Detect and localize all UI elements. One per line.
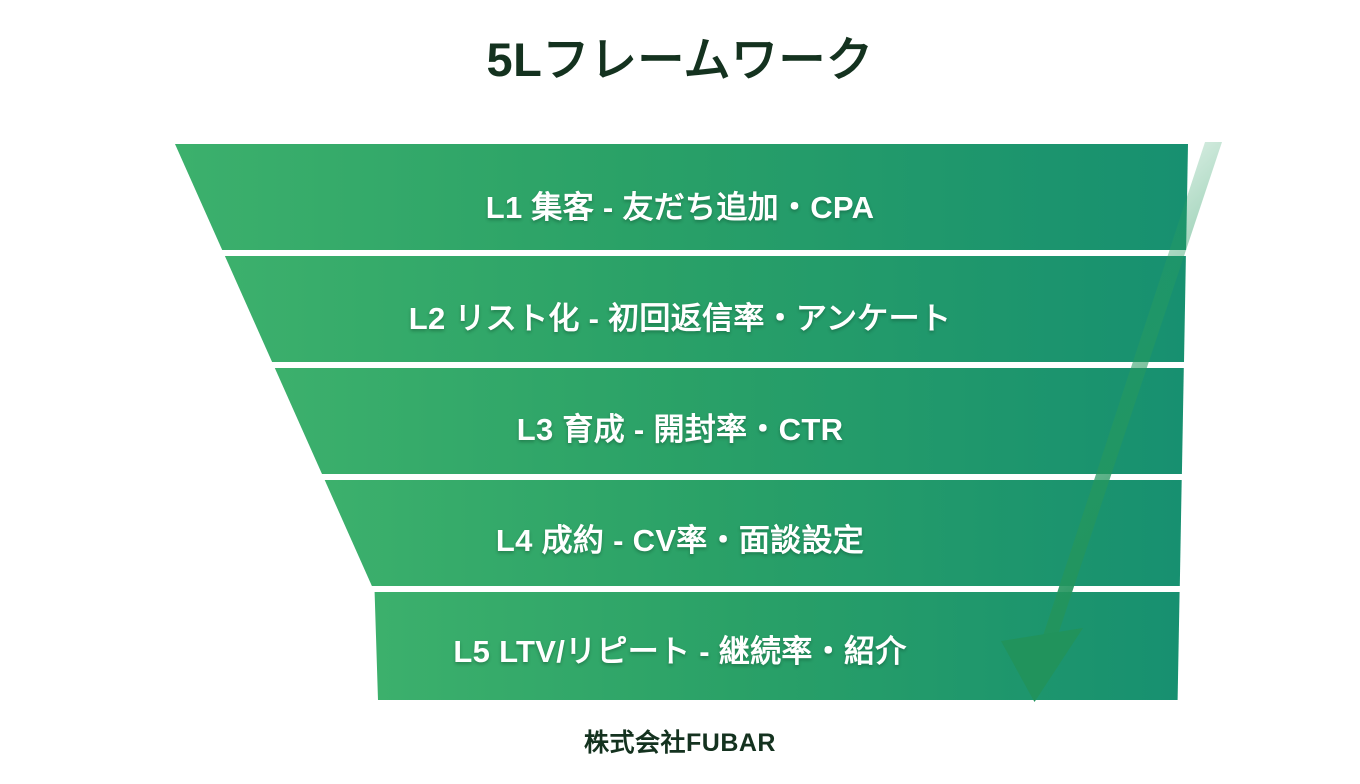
funnel-graphic [0,0,1360,784]
funnel-diagram: L1 集客 - 友だち追加・CPA L2 リスト化 - 初回返信率・アンケート … [0,0,1360,784]
funnel-segment-4[interactable] [325,480,1182,586]
funnel-segment-2[interactable] [225,256,1186,362]
slide-canvas: 5Lフレームワーク [0,0,1360,784]
funnel-segment-1[interactable] [175,144,1188,250]
company-name-footer: 株式会社FUBAR [0,723,1360,759]
funnel-segment-3[interactable] [275,368,1184,474]
